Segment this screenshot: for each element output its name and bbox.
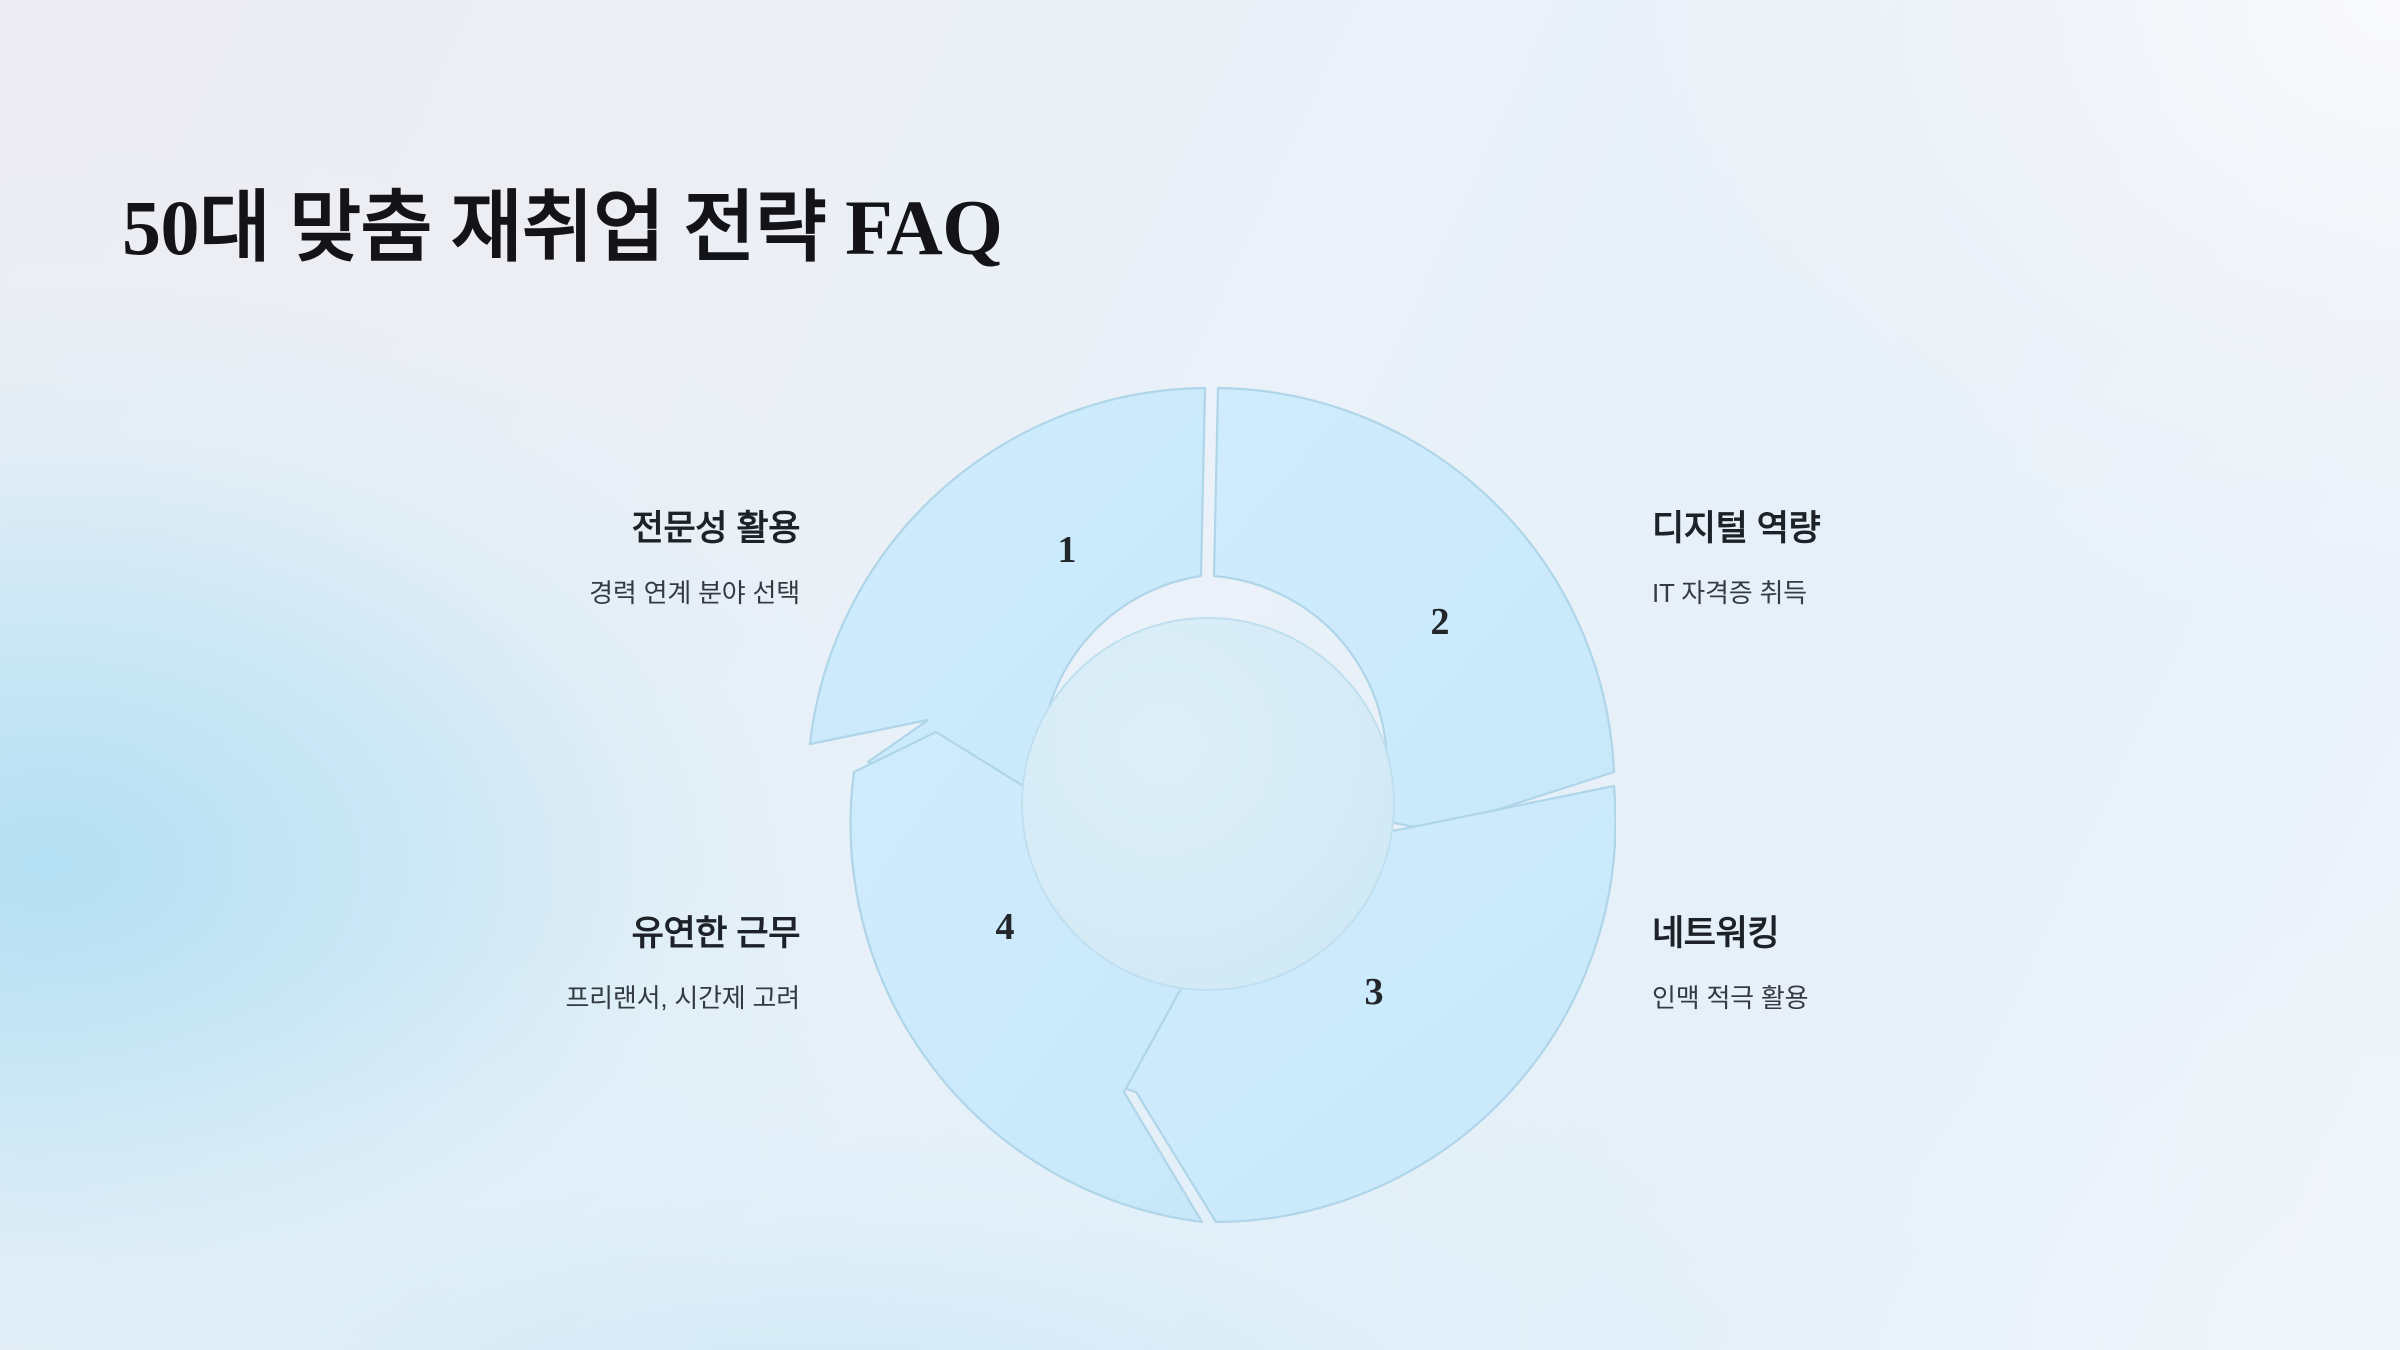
segment-number-4: 4 — [975, 905, 1035, 949]
segment-number-1: 1 — [1037, 528, 1097, 572]
segment-label-3: 네트워킹 인맥 적극 활용 — [1652, 905, 2192, 1015]
page-title: 50대 맞춤 재취업 전략 FAQ — [122, 186, 1002, 270]
segment-label-1: 전문성 활용 경력 연계 분야 선택 — [260, 500, 800, 610]
segment-number-3: 3 — [1344, 970, 1404, 1014]
segment-label-2-title: 디지털 역량 — [1652, 500, 2192, 551]
slide-canvas: 50대 맞춤 재취업 전략 FAQ — [0, 0, 2400, 1350]
segment-label-2: 디지털 역량 IT 자격증 취득 — [1652, 500, 2192, 610]
segment-label-3-title: 네트워킹 — [1652, 905, 2192, 956]
donut-center-hub — [1022, 618, 1394, 990]
segment-label-1-title: 전문성 활용 — [260, 500, 800, 551]
segment-label-4: 유연한 근무 프리랜서, 시간제 고려 — [260, 905, 800, 1015]
donut-chart — [806, 380, 1616, 1230]
segment-label-2-subtitle: IT 자격증 취득 — [1652, 573, 2192, 610]
segment-label-1-subtitle: 경력 연계 분야 선택 — [260, 573, 800, 610]
segment-number-2: 2 — [1410, 600, 1470, 644]
segment-label-4-title: 유연한 근무 — [260, 905, 800, 956]
segment-label-4-subtitle: 프리랜서, 시간제 고려 — [260, 978, 800, 1015]
segment-label-3-subtitle: 인맥 적극 활용 — [1652, 978, 2192, 1015]
